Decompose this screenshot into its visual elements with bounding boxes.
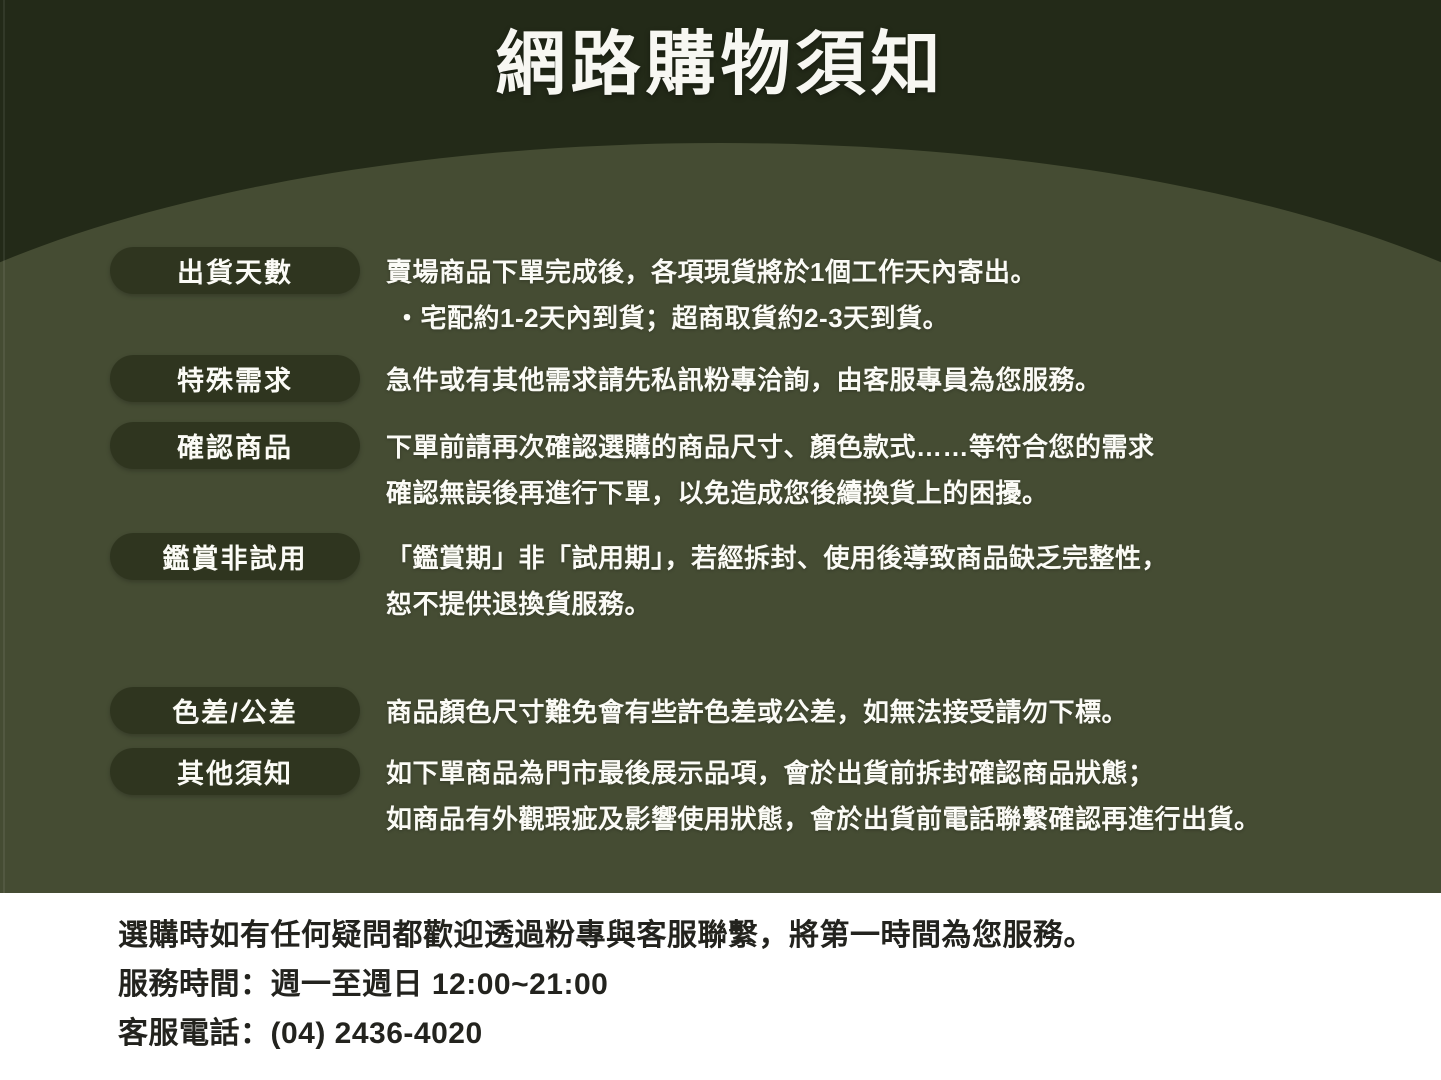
page-title: 網路購物須知 (0, 26, 1441, 103)
notice-line: 賣場商品下單完成後，各項現貨將於1個工作天內寄出。 (386, 249, 1441, 295)
hero-section: 網路購物須知 出貨天數 賣場商品下單完成後，各項現貨將於1個工作天內寄出。 ・宅… (0, 0, 1441, 893)
notice-row-special-request: 特殊需求 急件或有其他需求請先私訊粉專洽詢，由客服專員為您服務。 (0, 355, 1441, 403)
notice-line: 確認無誤後再進行下單，以免造成您後續換貨上的困擾。 (386, 470, 1441, 516)
footer-contact-block: 選購時如有任何疑問都歡迎透過粉專與客服聯繫，將第一時間為您服務。 服務時間：週一… (118, 911, 1094, 1058)
notice-rows: 出貨天數 賣場商品下單完成後，各項現貨將於1個工作天內寄出。 ・宅配約1-2天內… (0, 247, 1441, 842)
notice-line: 「鑑賞期」非「試用期」，若經拆封、使用後導致商品缺乏完整性， (386, 535, 1441, 581)
notice-label-inspection-not-trial: 鑑賞非試用 (110, 533, 360, 580)
notice-body-confirm-product: 下單前請再次確認選購的商品尺寸、顏色款式……等符合您的需求 確認無誤後再進行下單… (386, 422, 1441, 516)
notice-label-other: 其他須知 (110, 748, 360, 795)
notice-label-color-tolerance: 色差/公差 (110, 687, 360, 734)
notice-row-color-tolerance: 色差/公差 商品顏色尺寸難免會有些許色差或公差，如無法接受請勿下標。 (0, 687, 1441, 735)
notice-line: 急件或有其他需求請先私訊粉專洽詢，由客服專員為您服務。 (386, 357, 1441, 403)
notice-row-shipping-days: 出貨天數 賣場商品下單完成後，各項現貨將於1個工作天內寄出。 ・宅配約1-2天內… (0, 247, 1441, 341)
shopping-notice-page: 網路購物須知 出貨天數 賣場商品下單完成後，各項現貨將於1個工作天內寄出。 ・宅… (0, 0, 1441, 1080)
notice-line: 恕不提供退換貨服務。 (386, 581, 1441, 627)
notice-body-inspection-not-trial: 「鑑賞期」非「試用期」，若經拆封、使用後導致商品缺乏完整性， 恕不提供退換貨服務… (386, 533, 1441, 627)
notice-line: ・宅配約1-2天內到貨；超商取貨約2-3天到貨。 (386, 295, 1441, 341)
notice-body-shipping-days: 賣場商品下單完成後，各項現貨將於1個工作天內寄出。 ・宅配約1-2天內到貨；超商… (386, 247, 1441, 341)
notice-row-other: 其他須知 如下單商品為門市最後展示品項，會於出貨前拆封確認商品狀態； 如商品有外… (0, 748, 1441, 842)
notice-row-inspection-not-trial: 鑑賞非試用 「鑑賞期」非「試用期」，若經拆封、使用後導致商品缺乏完整性， 恕不提… (0, 533, 1441, 627)
notice-line: 如下單商品為門市最後展示品項，會於出貨前拆封確認商品狀態； (386, 750, 1441, 796)
footer-service-hours: 服務時間：週一至週日 12:00~21:00 (118, 960, 1094, 1009)
notice-line: 下單前請再次確認選購的商品尺寸、顏色款式……等符合您的需求 (386, 424, 1441, 470)
notice-line: 如商品有外觀瑕疵及影響使用狀態，會於出貨前電話聯繫確認再進行出貨。 (386, 796, 1441, 842)
notice-row-confirm-product: 確認商品 下單前請再次確認選購的商品尺寸、顏色款式……等符合您的需求 確認無誤後… (0, 422, 1441, 516)
notice-body-color-tolerance: 商品顏色尺寸難免會有些許色差或公差，如無法接受請勿下標。 (386, 687, 1441, 735)
notice-label-confirm-product: 確認商品 (110, 422, 360, 469)
footer-section: 選購時如有任何疑問都歡迎透過粉專與客服聯繫，將第一時間為您服務。 服務時間：週一… (0, 893, 1441, 1080)
notice-label-shipping-days: 出貨天數 (110, 247, 360, 294)
notice-label-special-request: 特殊需求 (110, 355, 360, 402)
notice-body-special-request: 急件或有其他需求請先私訊粉專洽詢，由客服專員為您服務。 (386, 355, 1441, 403)
footer-service-phone: 客服電話：(04) 2436-4020 (118, 1009, 1094, 1058)
notice-line: 商品顏色尺寸難免會有些許色差或公差，如無法接受請勿下標。 (386, 689, 1441, 735)
notice-body-other: 如下單商品為門市最後展示品項，會於出貨前拆封確認商品狀態； 如商品有外觀瑕疵及影… (386, 748, 1441, 842)
footer-contact-intro: 選購時如有任何疑問都歡迎透過粉專與客服聯繫，將第一時間為您服務。 (118, 911, 1094, 960)
